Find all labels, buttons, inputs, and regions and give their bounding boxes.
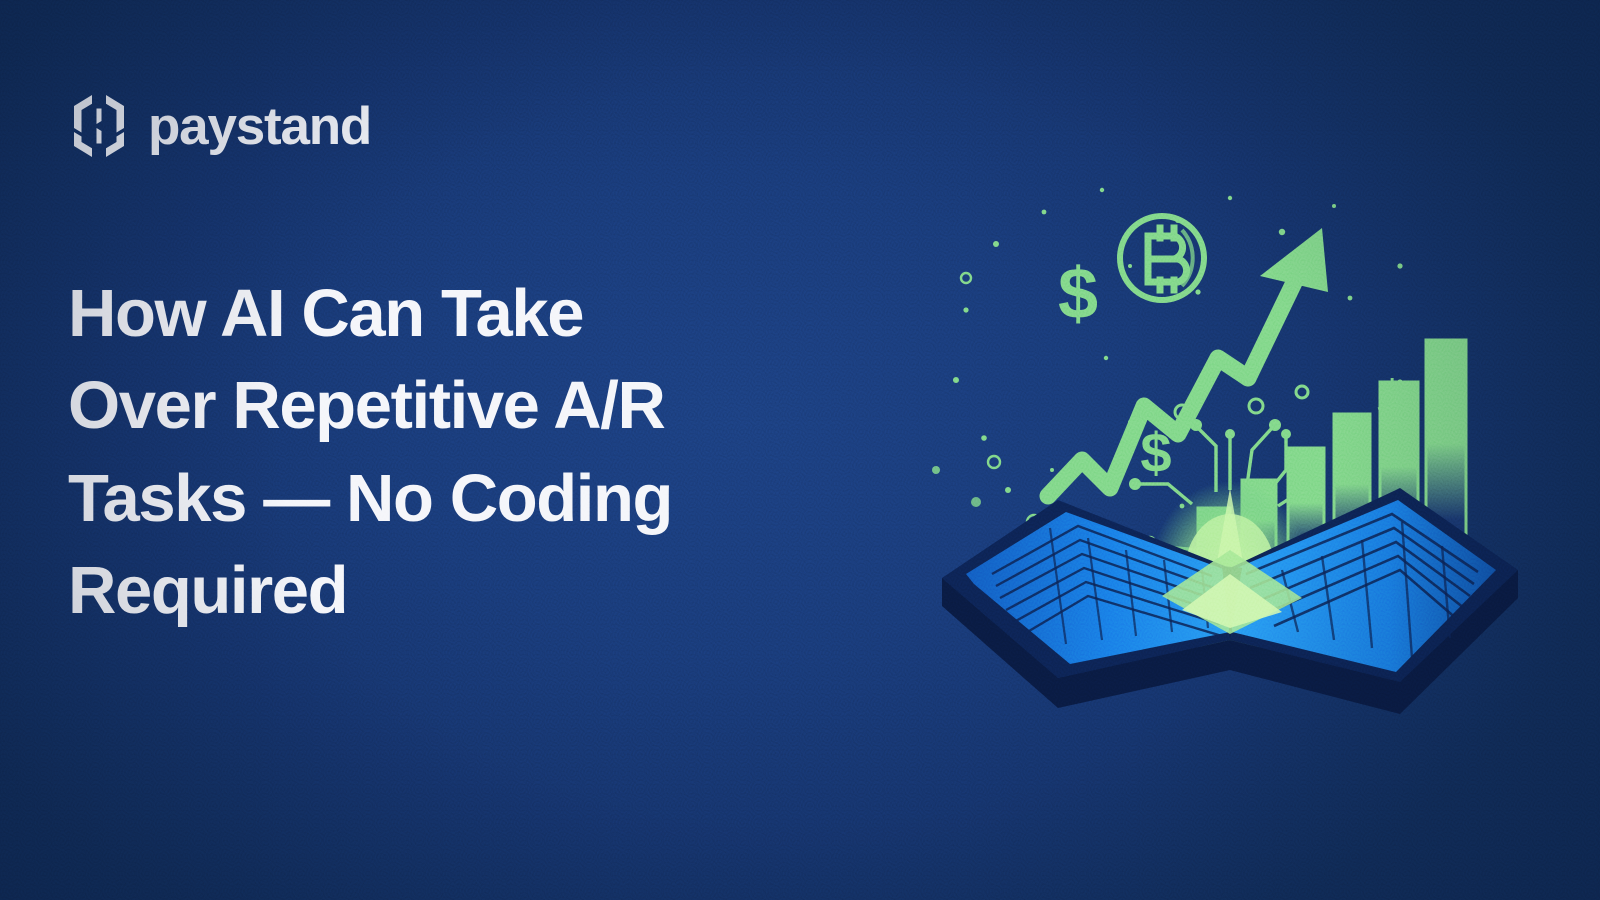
- bitcoin-coin-icon: [1120, 216, 1204, 300]
- ai-financial-growth-ledger-book-illustration: $ $ $ $: [930, 170, 1530, 790]
- paystand-logo[interactable]: paystand: [68, 92, 371, 160]
- paystand-hexagon-bracket-logo-icon: [68, 92, 130, 160]
- headline-line-2: Over Repetitive A/R: [68, 360, 898, 452]
- page-title: How AI Can Take Over Repetitive A/R Task…: [68, 268, 898, 638]
- hero-banner: paystand How AI Can Take Over Repetitive…: [0, 0, 1600, 900]
- headline-line-3: Tasks — No Coding: [68, 453, 898, 545]
- brand-wordmark: paystand: [148, 100, 371, 153]
- svg-text:$: $: [1058, 254, 1098, 334]
- headline-line-4: Required: [68, 545, 898, 637]
- headline-line-1: How AI Can Take: [68, 268, 898, 360]
- dollar-sign-icon: $: [1058, 254, 1098, 334]
